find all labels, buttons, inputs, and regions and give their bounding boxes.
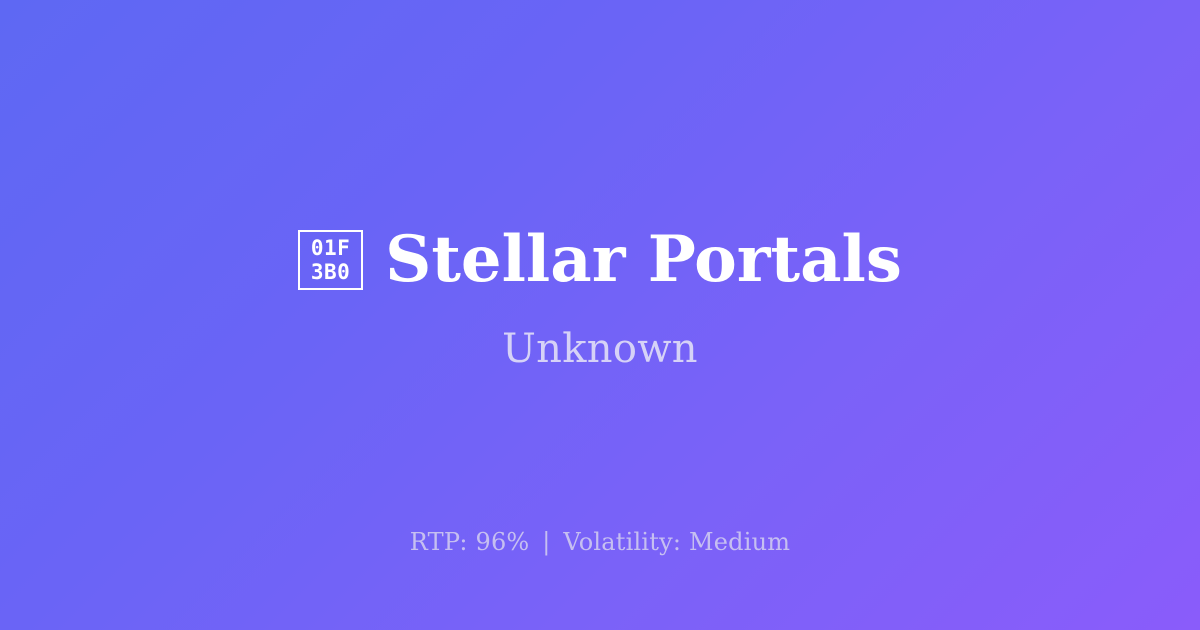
rtp-label: RTP:	[410, 528, 468, 556]
hero-block: 01F 3B0 Stellar Portals Unknown	[0, 228, 1200, 372]
title-row: 01F 3B0 Stellar Portals	[298, 228, 902, 292]
volatility-value: Medium	[689, 528, 790, 556]
rtp-value: 96%	[475, 528, 529, 556]
page-title: Stellar Portals	[385, 228, 902, 292]
game-provider-subtitle: Unknown	[502, 326, 698, 372]
game-og-card: 01F 3B0 Stellar Portals Unknown RTP: 96%…	[0, 0, 1200, 630]
game-stats-line: RTP: 96% | Volatility: Medium	[0, 528, 1200, 556]
slot-machine-icon-codepoint-top: 01F	[311, 236, 350, 260]
volatility-label: Volatility:	[563, 528, 681, 556]
slot-machine-icon-codepoint-bottom: 3B0	[311, 260, 350, 284]
stats-separator: |	[537, 528, 555, 556]
slot-machine-icon: 01F 3B0	[298, 230, 363, 290]
